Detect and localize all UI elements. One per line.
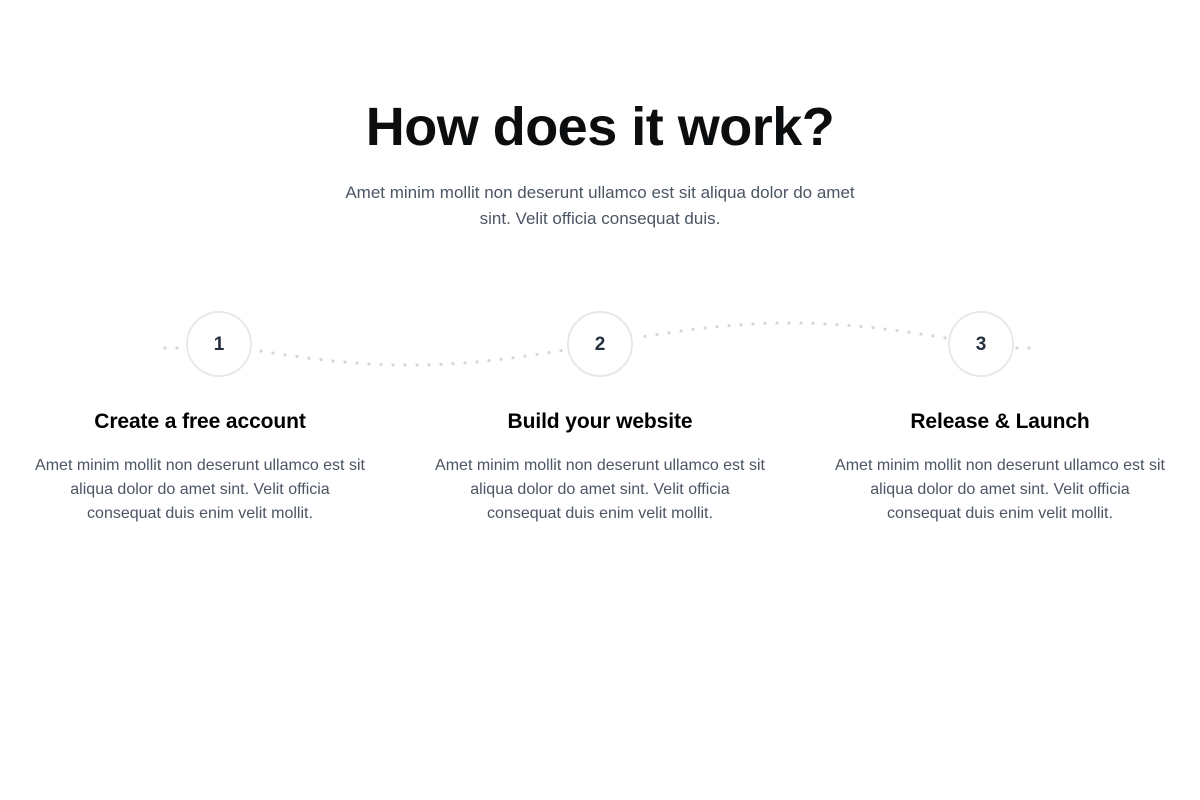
step-heading-3: Release & Launch bbox=[828, 408, 1172, 436]
step-text-2: Amet minim mollit non deserunt ullamco e… bbox=[428, 454, 772, 526]
step-item-1: Create a free account Amet minim mollit … bbox=[0, 408, 400, 526]
step-heading-2: Build your website bbox=[428, 408, 772, 436]
step-text-3: Amet minim mollit non deserunt ullamco e… bbox=[828, 454, 1172, 526]
step-columns: Create a free account Amet minim mollit … bbox=[0, 408, 1200, 526]
step-number-1: 1 bbox=[214, 335, 225, 354]
page-subtitle: Amet minim mollit non deserunt ullamco e… bbox=[330, 180, 870, 232]
step-item-2: Build your website Amet minim mollit non… bbox=[400, 408, 800, 526]
step-number-2: 2 bbox=[595, 335, 606, 354]
section-header: How does it work? Amet minim mollit non … bbox=[0, 96, 1200, 232]
step-item-3: Release & Launch Amet minim mollit non d… bbox=[800, 408, 1200, 526]
step-number-3: 3 bbox=[976, 335, 987, 354]
step-marker-2[interactable]: 2 bbox=[567, 311, 633, 377]
step-heading-1: Create a free account bbox=[28, 408, 372, 436]
step-marker-3[interactable]: 3 bbox=[948, 311, 1014, 377]
page-title: How does it work? bbox=[0, 96, 1200, 158]
step-text-1: Amet minim mollit non deserunt ullamco e… bbox=[28, 454, 372, 526]
how-it-works-section: How does it work? Amet minim mollit non … bbox=[0, 0, 1200, 800]
step-marker-1[interactable]: 1 bbox=[186, 311, 252, 377]
steps-container: 1 2 3 Create a free account Amet minim m… bbox=[0, 300, 1200, 540]
step-markers: 1 2 3 bbox=[0, 300, 1200, 390]
